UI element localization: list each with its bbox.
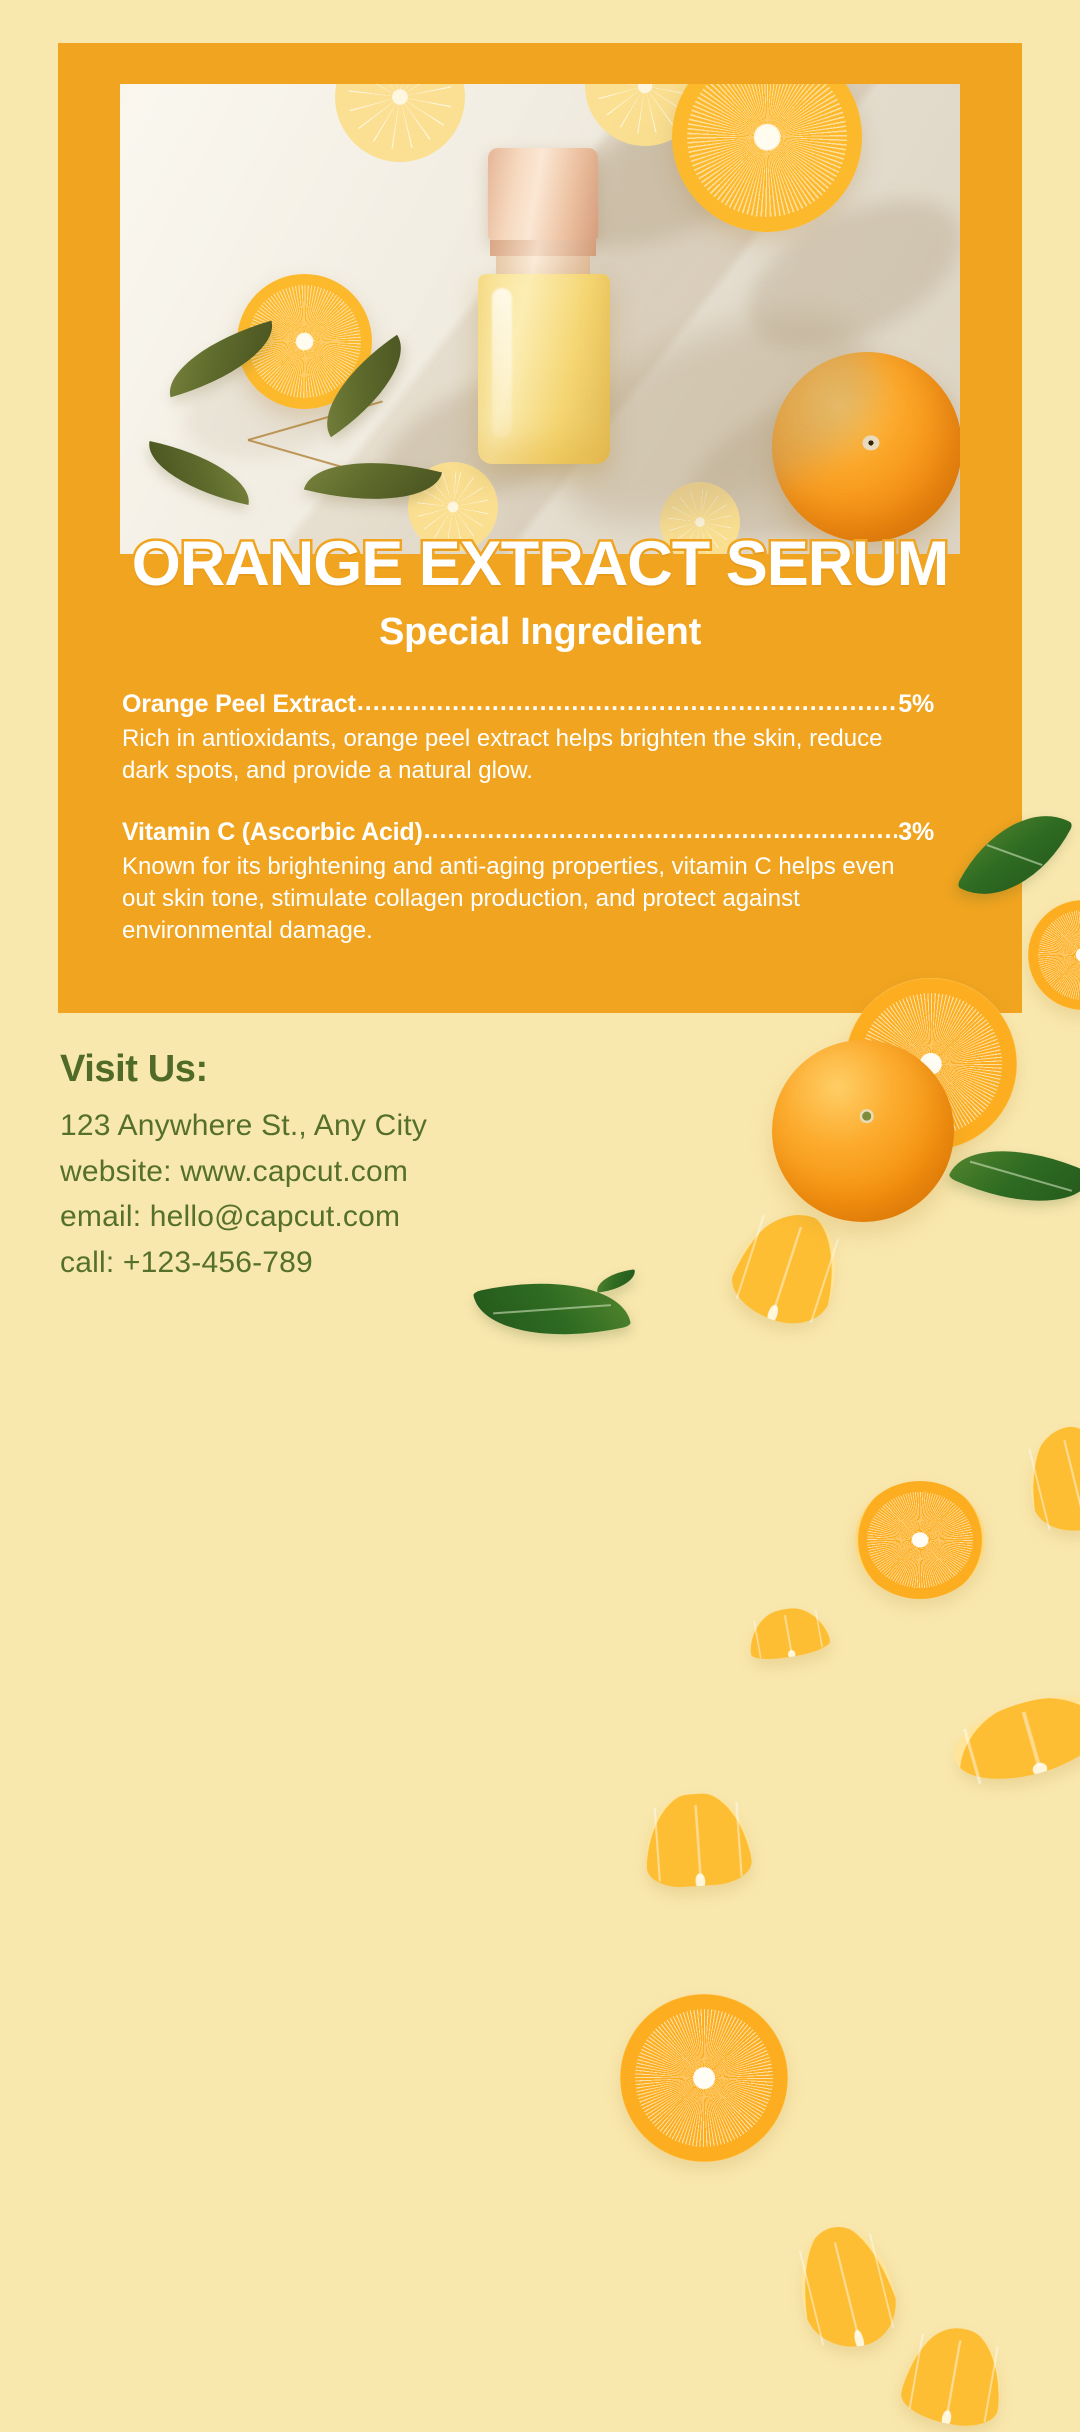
bottle-cap [488,148,598,240]
ingredient-dot-leader: ........................................… [357,688,897,717]
bottle-collar [490,240,596,256]
ingredient-name: Vitamin C (Ascorbic Acid) [122,818,423,847]
decor-orange-slice-bottom-left [620,1994,788,2162]
decor-leaf-bottom-left [473,1261,631,1356]
footer-phone[interactable]: call: +123-456-789 [60,1240,427,1286]
orange-navel [862,436,879,451]
slice-core [1076,948,1080,962]
ingredient-heading: Orange Peel Extract ....................… [122,688,934,719]
ingredient-list: Orange Peel Extract ....................… [122,688,934,956]
leaf-vein [493,1304,611,1314]
decor-orange-wedge-left [642,1790,753,1889]
leaf-vein [970,1161,1072,1192]
decor-leaf-tip [595,1269,637,1292]
decor-whole-orange [772,1040,954,1222]
slice-core [693,2067,715,2089]
decor-orange-wedge-bottom-right [897,2320,1010,2432]
decor-orange-wedge-mid [723,1199,852,1335]
footer-heading: Visit Us: [60,1048,427,1091]
footer-website[interactable]: website: www.capcut.com [60,1149,427,1195]
orange-core [754,124,781,151]
ingredient-item: Orange Peel Extract ....................… [122,688,934,786]
decor-orange-slice-elongated-right [945,1682,1080,1795]
leaf-vein [987,844,1043,866]
ingredient-percent: 5% [898,690,934,719]
ingredient-percent: 3% [898,818,934,847]
photo-serum-bottle [470,148,625,468]
decor-orange-slice-pointed [787,2217,906,2358]
footer-email[interactable]: email: hello@capcut.com [60,1194,427,1240]
ingredient-heading: Vitamin C (Ascorbic Acid) ..............… [122,816,934,847]
bottle-gloss [492,288,512,438]
footer-address: 123 Anywhere St., Any City [60,1103,427,1149]
page-title: ORANGE EXTRACT SERUM [0,528,1080,600]
page-subtitle: Special Ingredient [0,611,1080,654]
decor-orange-slice-right-edge [1028,900,1080,1010]
poster-canvas: ORANGE EXTRACT SERUM Special Ingredient … [0,0,1080,1350]
ingredient-dot-leader: ........................................… [424,816,898,845]
footer-contact: Visit Us: 123 Anywhere St., Any City web… [60,1048,427,1285]
decor-orange-wedge-right-edge [1017,1417,1080,1540]
decor-orange-wedge-upper [744,1602,831,1663]
hero-photo [120,84,960,554]
slice-core [912,1532,929,1547]
orange-navel [859,1110,874,1124]
orange-core [295,332,314,351]
ingredient-name: Orange Peel Extract [122,690,356,719]
decor-orange-slice-top [855,1481,985,1599]
ingredient-item: Vitamin C (Ascorbic Acid) ..............… [122,816,934,946]
ingredient-description: Rich in antioxidants, orange peel extrac… [122,723,922,786]
ingredient-description: Known for its brightening and anti-aging… [122,851,922,946]
